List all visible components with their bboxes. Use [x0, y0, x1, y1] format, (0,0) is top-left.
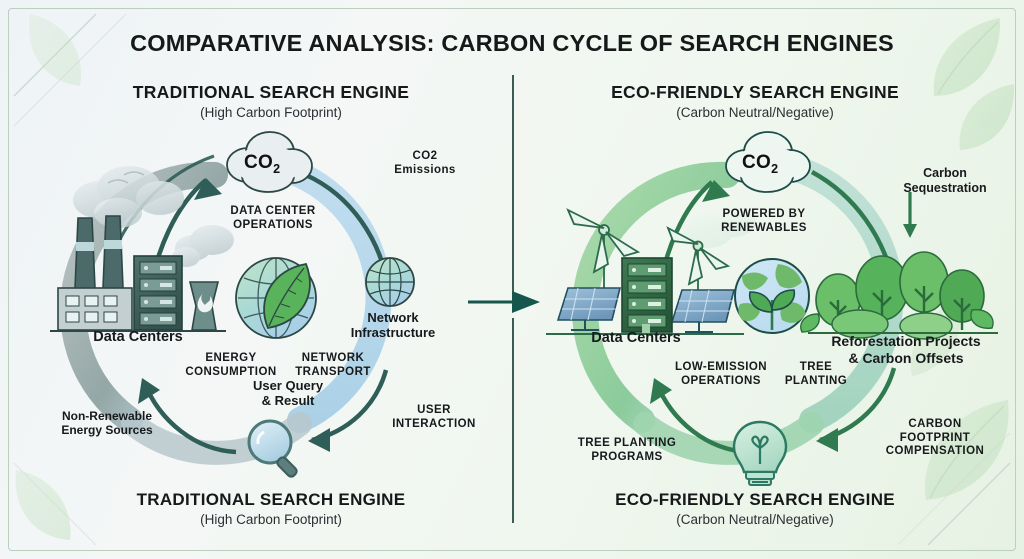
right-arrow-tree-planting-programs: TREE PLANTINGPROGRAMS — [562, 437, 692, 464]
left-header-subtitle: (High Carbon Footprint) — [36, 105, 506, 120]
left-panel-header: TRADITIONAL SEARCH ENGINE (High Carbon F… — [36, 82, 506, 120]
right-footer-title: ECO-FRIENDLY SEARCH ENGINE — [520, 490, 990, 510]
left-panel-footer: TRADITIONAL SEARCH ENGINE (High Carbon F… — [36, 490, 506, 527]
right-header-subtitle: (Carbon Neutral/Negative) — [520, 105, 990, 120]
right-panel-header: ECO-FRIENDLY SEARCH ENGINE (Carbon Neutr… — [520, 82, 990, 120]
left-node-user-query-result: User Query& Result — [218, 378, 358, 409]
right-node-data-centers: Data Centers — [556, 330, 716, 347]
panel-divider-top — [512, 75, 514, 292]
right-arrow-powered-by-renewables: POWERED BYRENEWABLES — [694, 208, 834, 235]
left-co2-label: CO2 — [244, 152, 280, 176]
page-title: COMPARATIVE ANALYSIS: CARBON CYCLE OF SE… — [0, 30, 1024, 57]
left-header-title: TRADITIONAL SEARCH ENGINE — [36, 82, 506, 103]
left-arrow-data-center-operations: DATA CENTEROPERATIONS — [198, 205, 348, 232]
left-arrow-non-renewable-energy-sources: Non-RenewableEnergy Sources — [42, 409, 172, 437]
left-footer-title: TRADITIONAL SEARCH ENGINE — [36, 490, 506, 510]
left-node-network-infrastructure: NetworkInfrastructure — [338, 310, 448, 341]
left-arrow-energy-consumption: ENERGYCONSUMPTION — [176, 352, 286, 379]
left-node-data-centers: Data Centers — [48, 329, 228, 346]
left-arrow-user-interaction: USERINTERACTION — [372, 404, 496, 431]
right-header-title: ECO-FRIENDLY SEARCH ENGINE — [520, 82, 990, 103]
right-panel-footer: ECO-FRIENDLY SEARCH ENGINE (Carbon Neutr… — [520, 490, 990, 527]
right-arrow-low-emission-operations: LOW-EMISSIONOPERATIONS — [660, 361, 782, 388]
left-footer-subtitle: (High Carbon Footprint) — [36, 512, 506, 527]
right-arrow-carbon-footprint-compensation: CARBONFOOTPRINTCOMPENSATION — [870, 418, 1000, 459]
left-arrow-network-transport: NETWORKTRANSPORT — [280, 352, 386, 379]
right-arrow-carbon-sequestration: CarbonSequestration — [880, 166, 1010, 196]
infographic-poster: COMPARATIVE ANALYSIS: CARBON CYCLE OF SE… — [0, 0, 1024, 559]
right-footer-subtitle: (Carbon Neutral/Negative) — [520, 512, 990, 527]
panel-divider-bottom — [512, 318, 514, 523]
left-arrow-co2-emissions: CO2Emissions — [370, 150, 480, 177]
right-arrow-tree-planting: TREEPLANTING — [770, 361, 862, 388]
right-co2-label: CO2 — [742, 152, 778, 176]
